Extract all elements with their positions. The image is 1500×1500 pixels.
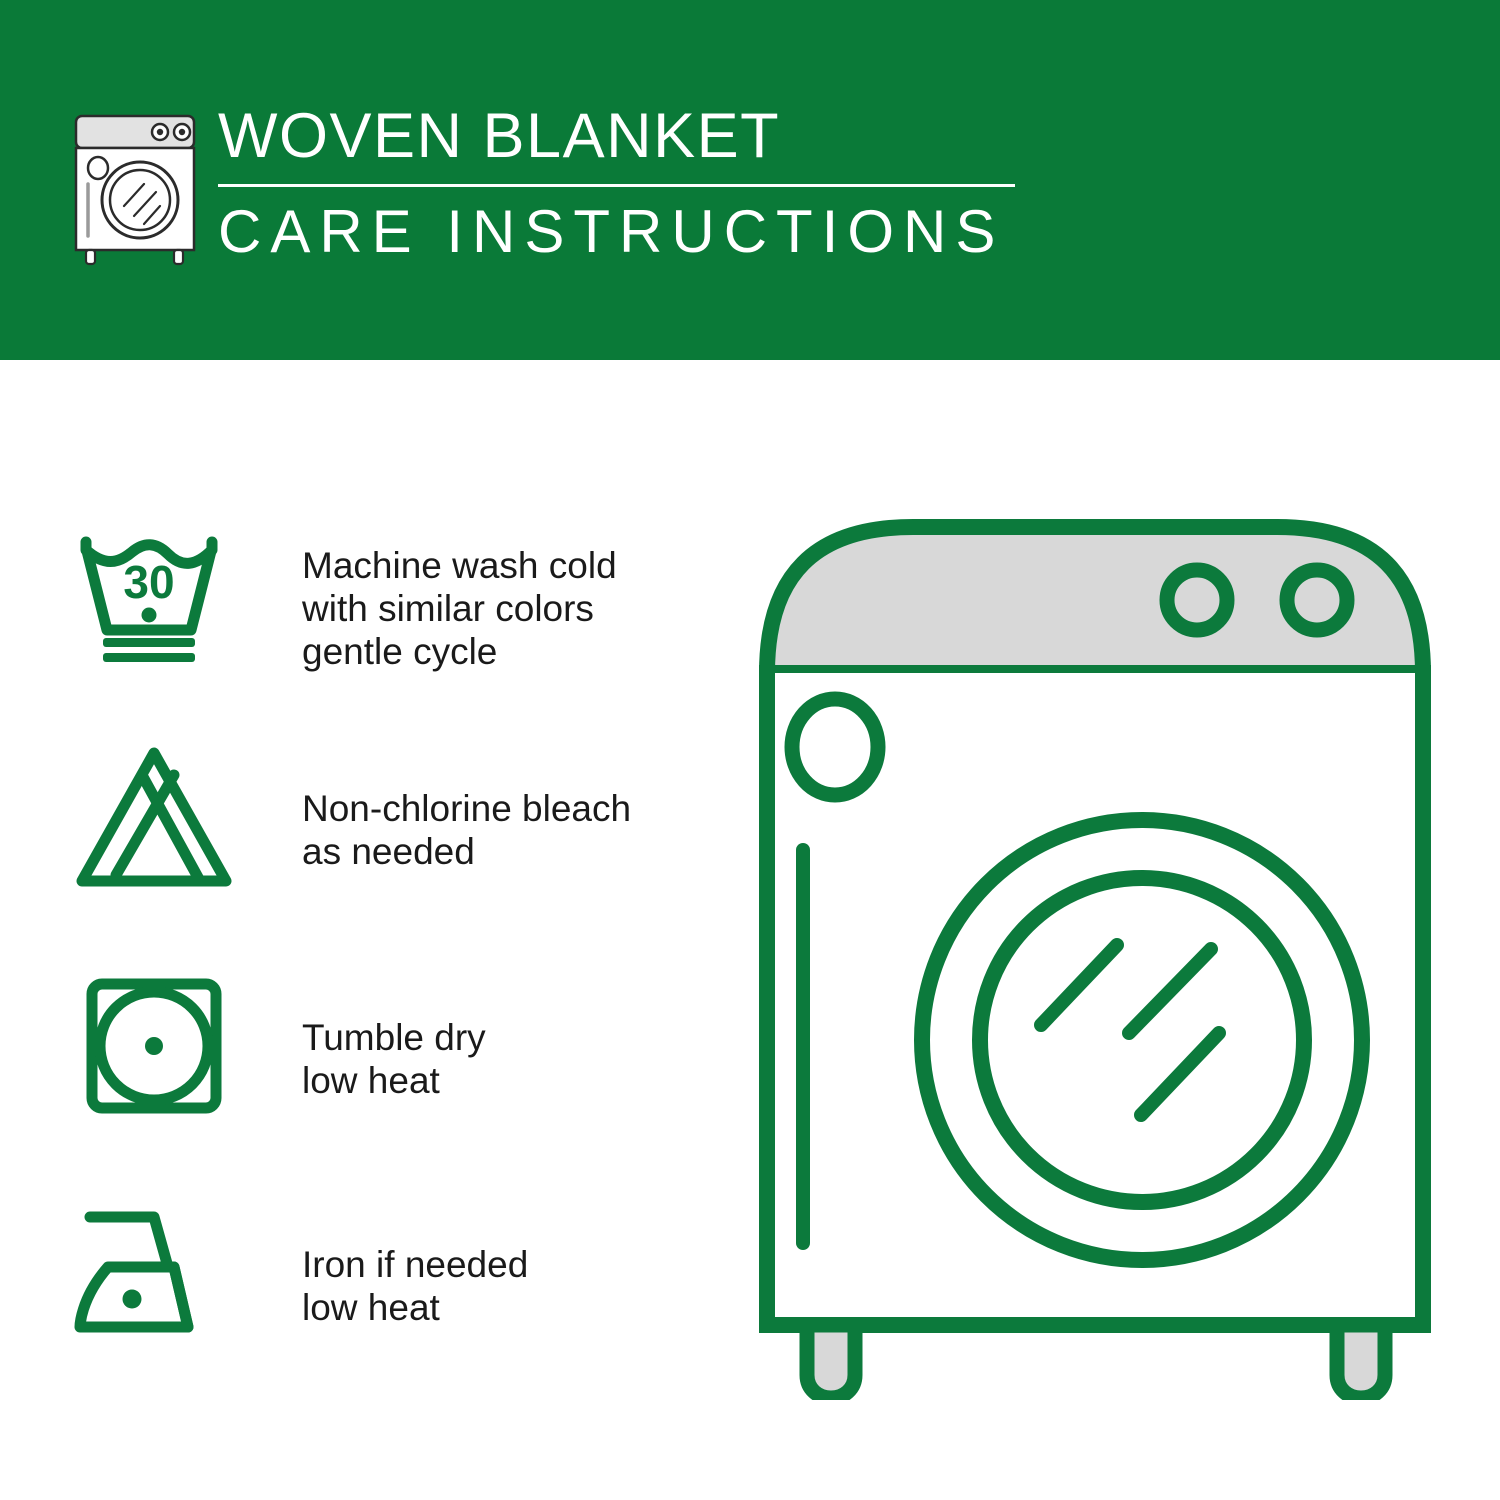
care-label-line-1: Iron if needed: [302, 1243, 528, 1286]
non-chlorine-bleach-icon: [70, 745, 240, 895]
header-divider: [218, 184, 1015, 187]
header-band: WOVEN BLANKET CARE INSTRUCTIONS: [0, 0, 1500, 360]
iron-low-heat-icon: [70, 1195, 240, 1345]
front-load-washing-machine-illustration: [745, 505, 1445, 1400]
care-item-iron: Iron if needed low heat: [70, 1195, 670, 1420]
care-instructions-list: 30 Machine wash cold with similar colors…: [70, 520, 670, 1420]
care-label-line-3: gentle cycle: [302, 630, 617, 673]
care-label-line-1: Machine wash cold: [302, 544, 617, 587]
tumble-dry-low-icon: [70, 970, 240, 1120]
care-label-line-1: Tumble dry: [302, 1016, 486, 1059]
care-label-line-2: low heat: [302, 1059, 486, 1102]
care-item-machine-wash-label: Machine wash cold with similar colors ge…: [302, 544, 617, 673]
care-item-iron-label: Iron if needed low heat: [302, 1243, 528, 1329]
care-item-bleach: Non-chlorine bleach as needed: [70, 745, 670, 970]
care-item-bleach-label: Non-chlorine bleach as needed: [302, 787, 631, 873]
care-item-tumble-dry-label: Tumble dry low heat: [302, 1016, 486, 1102]
care-label-line-2: with similar colors: [302, 587, 617, 630]
care-item-machine-wash: 30 Machine wash cold with similar colors…: [70, 520, 670, 745]
machine-wash-30-gentle-icon: 30: [70, 520, 240, 670]
washing-machine-icon: [62, 108, 212, 268]
page-subtitle: CARE INSTRUCTIONS: [218, 197, 1018, 267]
care-item-tumble-dry: Tumble dry low heat: [70, 970, 670, 1195]
care-label-line-2: as needed: [302, 830, 631, 873]
page-title: WOVEN BLANKET: [218, 100, 1018, 172]
wash-temperature-value: 30: [123, 556, 174, 608]
care-label-line-1: Non-chlorine bleach: [302, 787, 631, 830]
care-label-line-2: low heat: [302, 1286, 528, 1329]
header-text-block: WOVEN BLANKET CARE INSTRUCTIONS: [218, 100, 1018, 267]
